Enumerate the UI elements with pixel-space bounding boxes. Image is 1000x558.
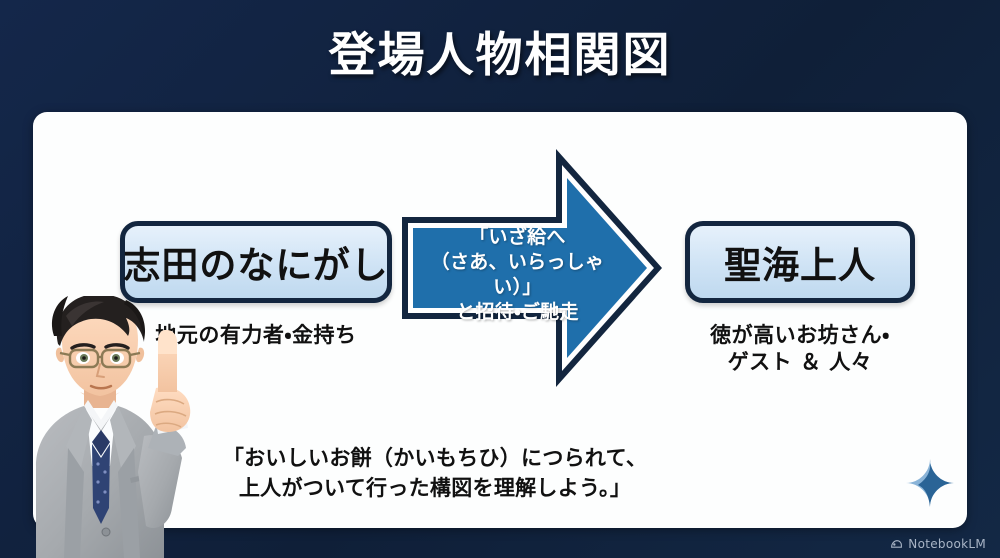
slide-canvas: 登場人物相関図 志田のなにがし 地元の有力者・金持ち 聖海上人 徳が高いお坊さん… (0, 0, 1000, 558)
presenter-character-illustration (6, 296, 234, 558)
person-box-left[interactable]: 志田のなにがし (120, 221, 392, 303)
notebooklm-star-icon (905, 458, 955, 508)
person-name-right: 聖海上人 (724, 235, 876, 289)
person-name-left: 志田のなにがし (123, 235, 388, 289)
relation-arrow-label: 「いざ給へ （さあ、いらっしゃい）」 と招待・ご馳走 (410, 225, 625, 325)
notebooklm-mark-icon (890, 538, 903, 551)
watermark: NotebookLM (890, 537, 986, 551)
bottom-note: 「おいしいお餅（かいもちひ）につられて、 上人がついて行った構図を理解しよう。」 (200, 443, 670, 504)
page-title: 登場人物相関図 (0, 16, 1000, 85)
person-box-right[interactable]: 聖海上人 (685, 221, 915, 303)
relation-arrow: 「いざ給へ （さあ、いらっしゃい）」 と招待・ご馳走 (396, 143, 668, 393)
person-caption-right: 徳が高いお坊さん・ ゲスト ＆ 人々 (665, 322, 935, 376)
watermark-label: NotebookLM (908, 537, 986, 551)
